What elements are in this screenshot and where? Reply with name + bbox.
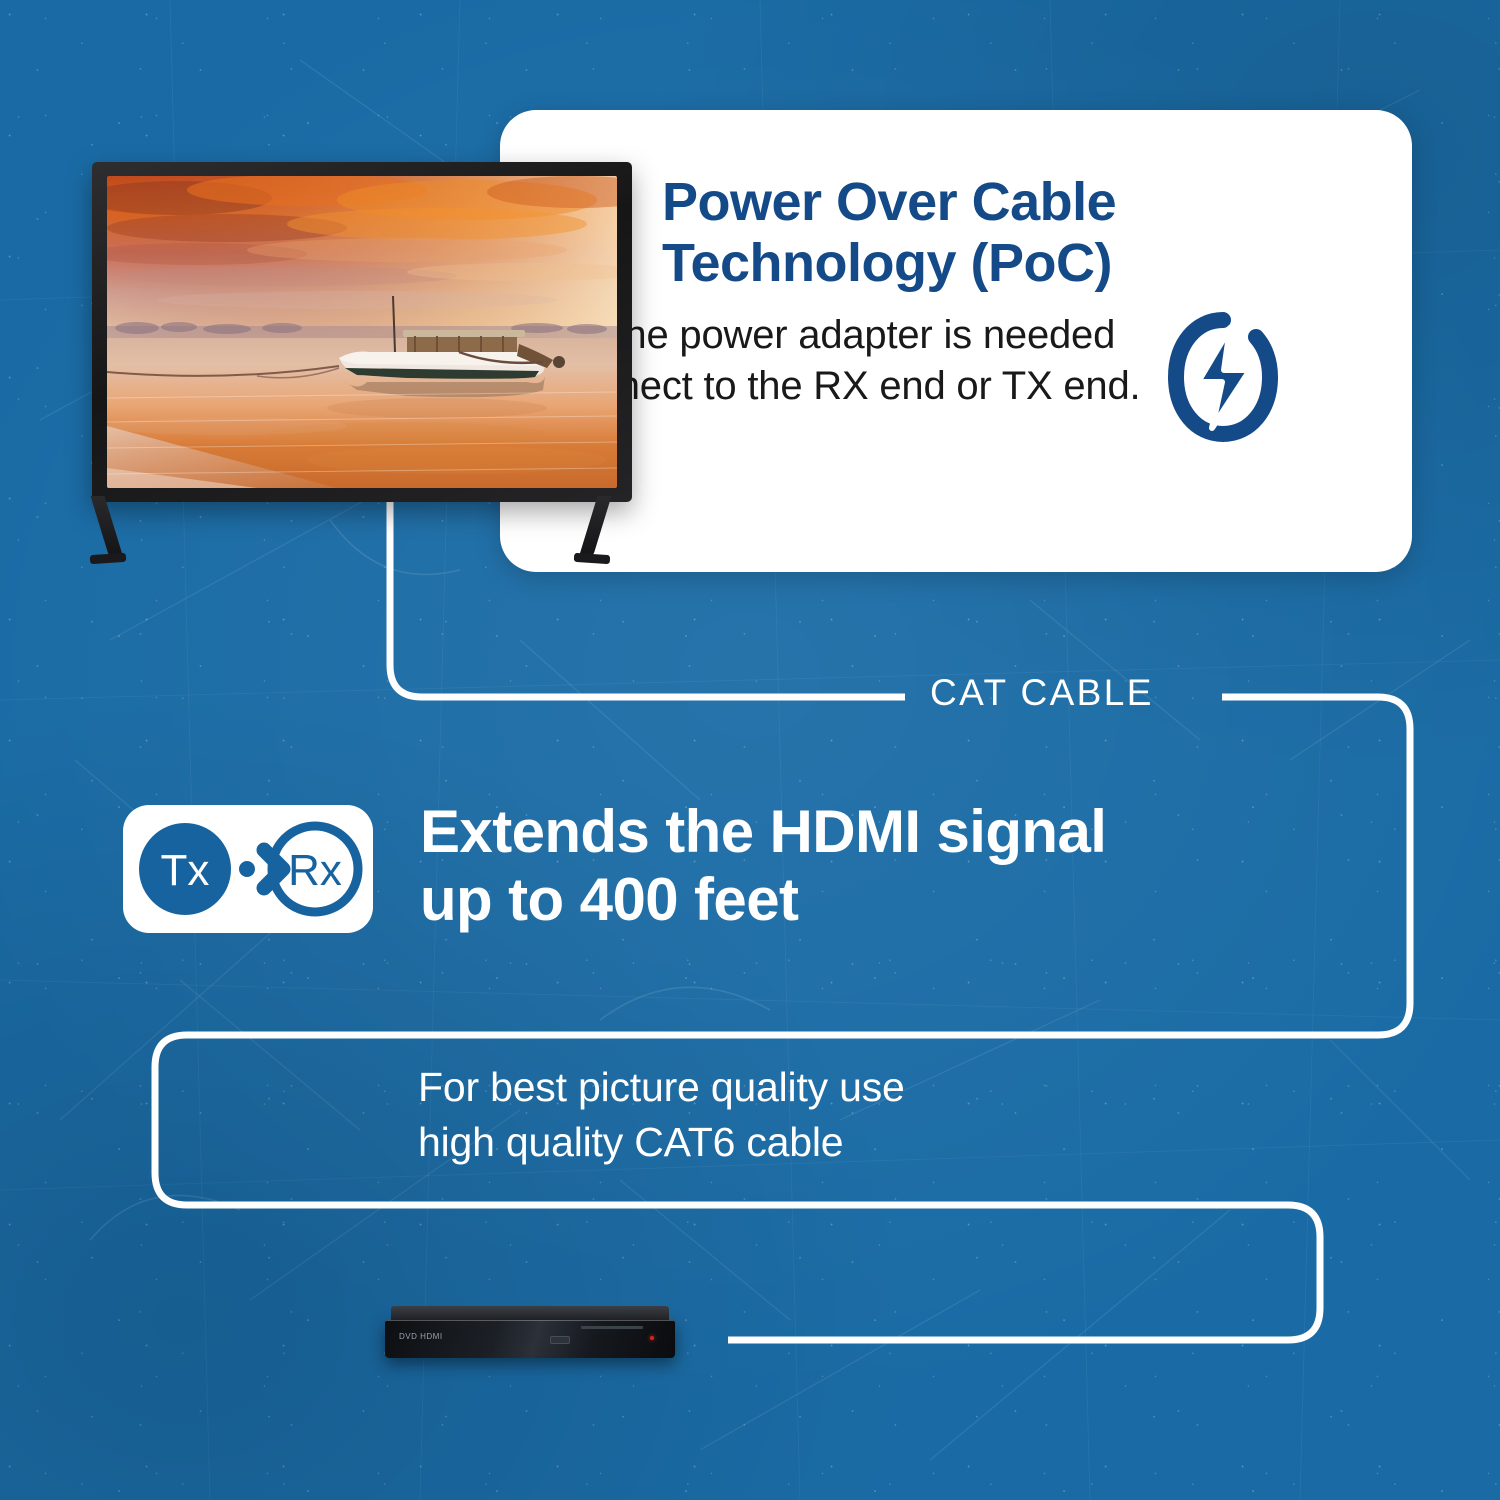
card-title: Power Over Cable Technology (PoC) — [662, 172, 1368, 294]
rx-label: Rx — [288, 846, 342, 895]
dvd-front-port-icon — [550, 1336, 570, 1344]
tv-screen-image-sunset-boat — [107, 176, 617, 488]
cable-path-to-player — [728, 1205, 1320, 1340]
tx-label: Tx — [161, 846, 210, 895]
cat-cable-label: CAT CABLE — [930, 672, 1154, 714]
poc-info-card: Power Over Cable Technology (PoC) Only o… — [500, 110, 1412, 572]
card-subtitle: Only one power adapter is needed to conn… — [510, 310, 1368, 412]
arrow-dot-icon — [239, 861, 255, 877]
tx-rx-badge: Tx Rx — [123, 805, 373, 933]
tv-leg-right — [579, 496, 612, 558]
cable-quality-note: For best picture quality use high qualit… — [418, 1060, 1138, 1169]
infographic-canvas: CAT CABLE Power Over Cable Technology (P… — [0, 0, 1500, 1500]
tv-bezel — [92, 162, 632, 502]
dvd-player-logo: DVD HDMI — [399, 1332, 443, 1341]
dvd-disc-tray — [581, 1326, 643, 1329]
tv-screen — [107, 176, 617, 488]
tx-rx-icon-group: Tx Rx — [123, 805, 373, 933]
feature-headline: Extends the HDMI signal up to 400 feet — [420, 798, 1320, 935]
dvd-player: DVD HDMI — [385, 1306, 675, 1366]
dvd-power-led-icon — [650, 1336, 654, 1340]
tv-leg-left — [91, 496, 124, 558]
television — [92, 162, 632, 552]
